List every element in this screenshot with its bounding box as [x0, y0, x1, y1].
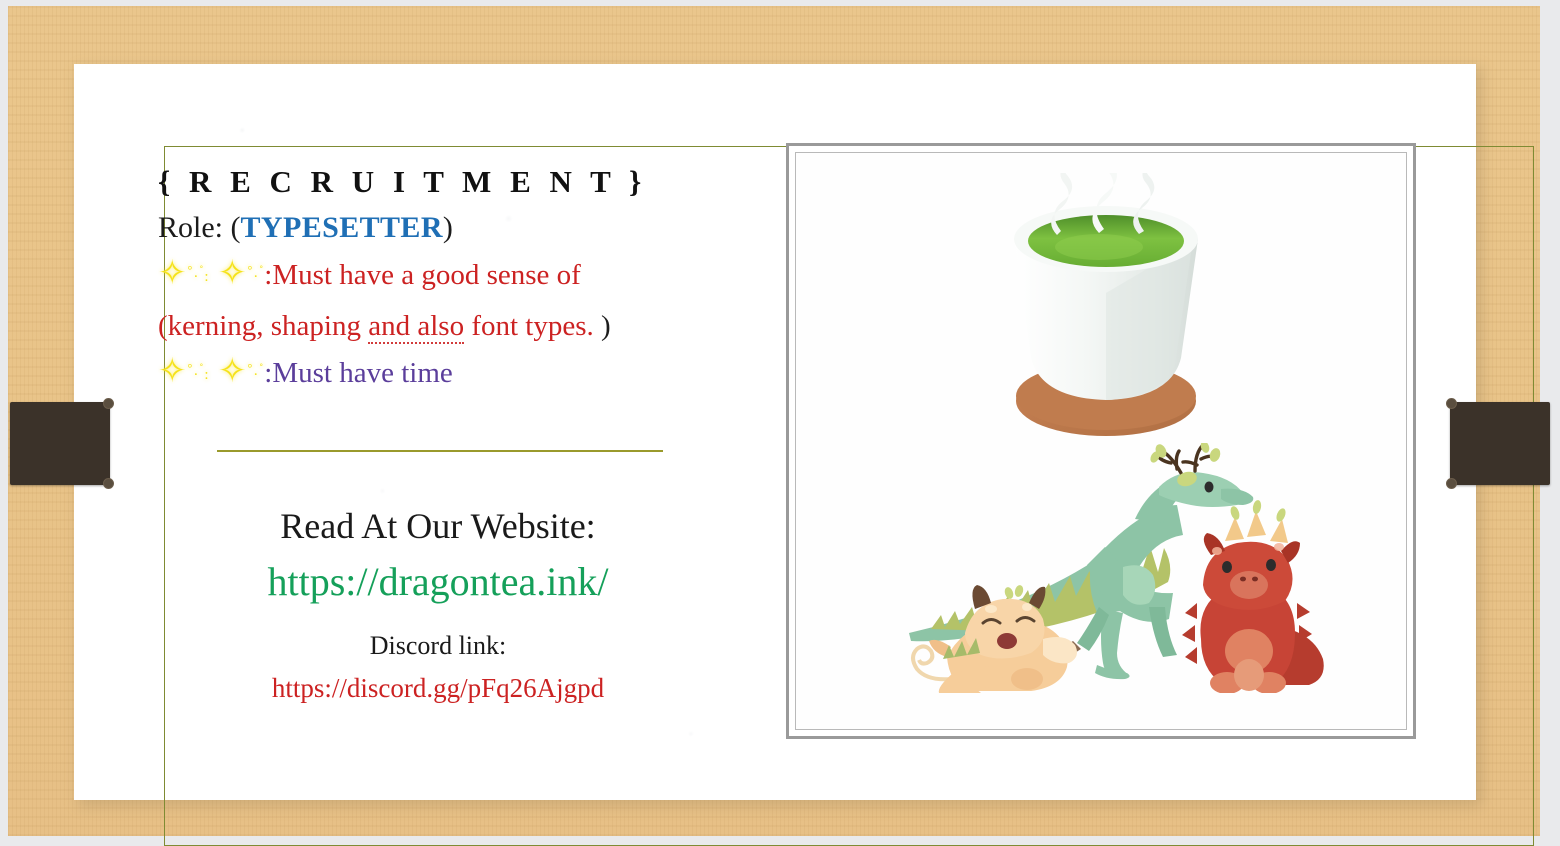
spellchecked-phrase: and also — [368, 310, 464, 344]
right-clamp-bar — [1450, 402, 1550, 485]
role-line: Role: (TYPESETTER) — [158, 204, 758, 251]
close-paren: ) — [594, 310, 611, 342]
wrap-part-2: font types. — [464, 310, 594, 342]
discord-url-link[interactable]: https://discord.gg/pFq26Ajgpd — [158, 668, 718, 708]
clamp-knob-bottom — [103, 478, 114, 489]
requirement-item-2: ✧°·˚: ✧°·˚:Must have time — [158, 349, 758, 401]
role-value: TYPESETTER — [241, 211, 443, 244]
recruitment-text-block: { R E C R U I T M E N T } Role: (TYPESET… — [158, 160, 758, 401]
green-tea-cup-illustration — [961, 173, 1251, 443]
clamp-knob-top — [103, 398, 114, 409]
role-prefix: Role: ( — [158, 211, 241, 244]
sparkle-icon: ✧°·˚: ✧°·˚ — [158, 349, 264, 401]
requirement-item-1-continued: (kerning, shaping and also font types. ) — [158, 303, 758, 349]
discord-label: Discord link: — [158, 624, 718, 668]
call-to-action-block: Read At Our Website: https://dragontea.i… — [158, 498, 718, 708]
open-paren: ( — [158, 310, 168, 342]
role-suffix: ) — [443, 211, 453, 244]
requirement-text-2: Must have time — [272, 357, 452, 389]
website-headline: Read At Our Website: — [158, 498, 718, 554]
wrap-part-1: kerning, shaping — [168, 310, 369, 342]
picture-frame — [786, 143, 1416, 739]
sparkle-icon: ✧°·˚: ✧°·˚ — [158, 251, 264, 303]
slide-stage: { R E C R U I T M E N T } Role: (TYPESET… — [0, 0, 1560, 841]
page-title: { R E C R U I T M E N T } — [158, 160, 758, 204]
clamp-knob-top — [1446, 398, 1457, 409]
requirement-item-1: ✧°·˚: ✧°·˚:Must have a good sense of — [158, 251, 758, 303]
clamp-knob-bottom — [1446, 478, 1457, 489]
picture-frame-inner — [795, 152, 1407, 730]
three-dragons-illustration — [891, 443, 1331, 693]
requirement-text-1: Must have a good sense of — [272, 259, 580, 291]
left-clamp-bar — [10, 402, 110, 485]
website-url-link[interactable]: https://dragontea.ink/ — [158, 554, 718, 610]
section-divider — [217, 450, 663, 452]
